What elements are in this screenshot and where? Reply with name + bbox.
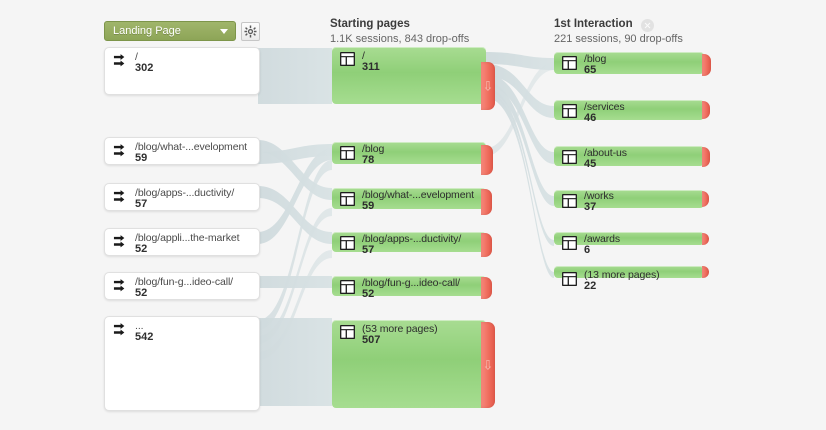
- settings-button[interactable]: [241, 22, 260, 41]
- interaction-node-3[interactable]: /works 37: [554, 190, 704, 208]
- dropoff-bar-interaction-2[interactable]: [702, 147, 710, 167]
- interaction-node-5[interactable]: (13 more pages) 22: [554, 266, 704, 278]
- starting-node-3[interactable]: /blog/apps-...ductivity/ 57: [332, 232, 486, 252]
- page-layout-icon: [340, 146, 355, 165]
- dropoff-bar-starting-1[interactable]: [481, 145, 493, 175]
- dropoff-bar-starting-4[interactable]: [481, 277, 492, 299]
- dropoff-bar-starting-5[interactable]: ⇩: [481, 322, 495, 408]
- node-value: 78: [362, 154, 374, 166]
- dropoff-bar-interaction-1[interactable]: [702, 101, 710, 119]
- dropoff-bar-starting-0[interactable]: ⇩: [481, 62, 495, 110]
- dropoff-bar-interaction-3[interactable]: [702, 191, 709, 207]
- node-value: 59: [362, 200, 374, 212]
- landing-node-3[interactable]: /blog/appli...the-market 52: [104, 228, 260, 256]
- column-header-starting-pages: Starting pages 1.1K sessions, 843 drop-o…: [330, 18, 469, 45]
- page-layout-icon: [562, 194, 577, 213]
- page-layout-icon: [340, 236, 355, 255]
- node-value: 57: [135, 198, 147, 210]
- node-value: 52: [135, 287, 147, 299]
- landing-node-4[interactable]: /blog/fun-g...ideo-call/ 52: [104, 272, 260, 300]
- double-arrow-icon: [113, 189, 130, 211]
- node-value: 59: [135, 152, 147, 164]
- starting-node-5[interactable]: (53 more pages) 507: [332, 320, 486, 408]
- node-label: /blog/fun-g...ideo-call/: [135, 276, 233, 288]
- dropoff-bar-interaction-4[interactable]: [702, 233, 709, 245]
- double-arrow-icon: [113, 278, 130, 300]
- node-value: 45: [584, 158, 596, 170]
- node-value: 52: [362, 288, 374, 300]
- gear-icon: [244, 25, 257, 38]
- landing-node-0[interactable]: / 302: [104, 47, 260, 95]
- dropoff-bar-interaction-0[interactable]: [702, 54, 711, 76]
- starting-node-1[interactable]: /blog 78: [332, 142, 486, 164]
- starting-node-4[interactable]: /blog/fun-g...ideo-call/ 52: [332, 276, 486, 296]
- page-layout-icon: [562, 150, 577, 169]
- node-label: /blog/apps-...ductivity/: [362, 233, 461, 245]
- dimension-select[interactable]: Landing Page: [104, 21, 236, 41]
- node-label: /blog/what-...evelopment: [135, 141, 247, 153]
- page-layout-icon: [340, 325, 355, 344]
- double-arrow-icon: [113, 53, 130, 75]
- node-label: /blog/apps-...ductivity/: [135, 187, 234, 199]
- node-value: 507: [362, 334, 380, 346]
- column-title: Starting pages: [330, 18, 469, 30]
- close-icon[interactable]: [641, 19, 654, 32]
- page-layout-icon: [562, 104, 577, 123]
- node-value: 542: [135, 331, 153, 343]
- node-value: 52: [135, 243, 147, 255]
- interaction-node-2[interactable]: /about-us 45: [554, 146, 704, 166]
- starting-node-0[interactable]: / 311: [332, 47, 486, 104]
- interaction-node-4[interactable]: /awards 6: [554, 232, 704, 245]
- behavior-flow-canvas: Landing Page Starting pages 1.1K session…: [0, 0, 826, 430]
- column-title: 1st Interaction: [554, 18, 683, 30]
- node-value: 302: [135, 62, 153, 74]
- double-arrow-icon: [113, 322, 130, 344]
- node-label: /blog/fun-g...ideo-call/: [362, 277, 460, 289]
- dropoff-bar-starting-2[interactable]: [481, 189, 492, 215]
- node-value: 6: [584, 244, 590, 256]
- landing-node-5[interactable]: ... 542: [104, 316, 260, 411]
- dimension-select-label: Landing Page: [113, 25, 181, 37]
- double-arrow-icon: [113, 234, 130, 256]
- node-value: 46: [584, 112, 596, 124]
- node-value: 37: [584, 201, 596, 213]
- page-layout-icon: [340, 192, 355, 211]
- page-layout-icon: [562, 272, 577, 291]
- node-label: /blog/appli...the-market: [135, 232, 239, 244]
- node-value: 65: [584, 64, 596, 76]
- column-header-first-interaction: 1st Interaction 221 sessions, 90 drop-of…: [554, 18, 683, 45]
- landing-node-2[interactable]: /blog/apps-...ductivity/ 57: [104, 183, 260, 211]
- node-value: 57: [362, 244, 374, 256]
- page-layout-icon: [562, 56, 577, 75]
- page-layout-icon: [340, 280, 355, 299]
- down-arrow-icon: ⇩: [483, 359, 494, 372]
- dropoff-bar-starting-3[interactable]: [481, 233, 492, 257]
- dropoff-bar-interaction-5[interactable]: [702, 266, 709, 278]
- interaction-node-1[interactable]: /services 46: [554, 100, 704, 120]
- down-arrow-icon: ⇩: [483, 80, 494, 93]
- landing-node-1[interactable]: /blog/what-...evelopment 59: [104, 137, 260, 165]
- page-layout-icon: [340, 52, 355, 71]
- page-layout-icon: [562, 236, 577, 255]
- double-arrow-icon: [113, 143, 130, 165]
- chevron-down-icon: [220, 29, 228, 34]
- node-label: /blog/what-...evelopment: [362, 189, 474, 201]
- column-subtitle: 1.1K sessions, 843 drop-offs: [330, 33, 469, 45]
- node-value: 311: [362, 61, 380, 73]
- node-value: 22: [584, 280, 596, 292]
- column-subtitle: 221 sessions, 90 drop-offs: [554, 33, 683, 45]
- starting-node-2[interactable]: /blog/what-...evelopment 59: [332, 188, 486, 209]
- interaction-node-0[interactable]: /blog 65: [554, 52, 704, 74]
